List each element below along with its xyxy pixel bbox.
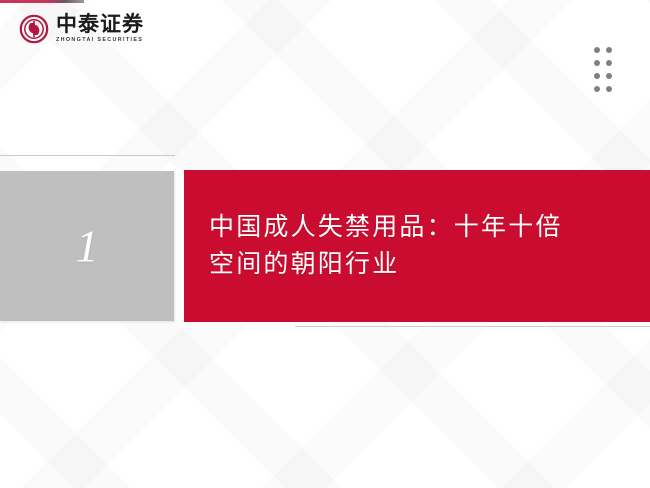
lower-divider-rule (295, 326, 650, 327)
section-title-text: 中国成人失禁用品：十年十倍空间的朝阳行业 (184, 209, 607, 283)
section-number-box: 1 (0, 171, 174, 321)
brand-logo-text: 中泰证券 ZHONGTAI SECURITIES (56, 14, 144, 43)
upper-divider-rule (0, 155, 175, 156)
grid-dot (594, 60, 600, 66)
grid-dot (606, 47, 612, 53)
zhongtai-circular-emblem-icon (19, 14, 49, 44)
section-number-label: 1 (0, 220, 174, 273)
brand-name-en: ZHONGTAI SECURITIES (56, 38, 144, 43)
section-title-banner: 中国成人失禁用品：十年十倍空间的朝阳行业 (184, 170, 650, 322)
dot-grid-decoration (594, 47, 618, 99)
grid-dot (594, 73, 600, 79)
brand-logo: 中泰证券 ZHONGTAI SECURITIES (19, 14, 144, 44)
brand-name-cn: 中泰证券 (56, 14, 144, 35)
grid-dot (606, 60, 612, 66)
grid-dot (594, 86, 600, 92)
presentation-slide: 中泰证券 ZHONGTAI SECURITIES 1 中国成人失禁用品：十年十倍… (0, 0, 650, 488)
top-accent-bar (0, 0, 84, 3)
grid-dot (594, 47, 600, 53)
grid-dot (606, 86, 612, 92)
grid-dot (606, 73, 612, 79)
